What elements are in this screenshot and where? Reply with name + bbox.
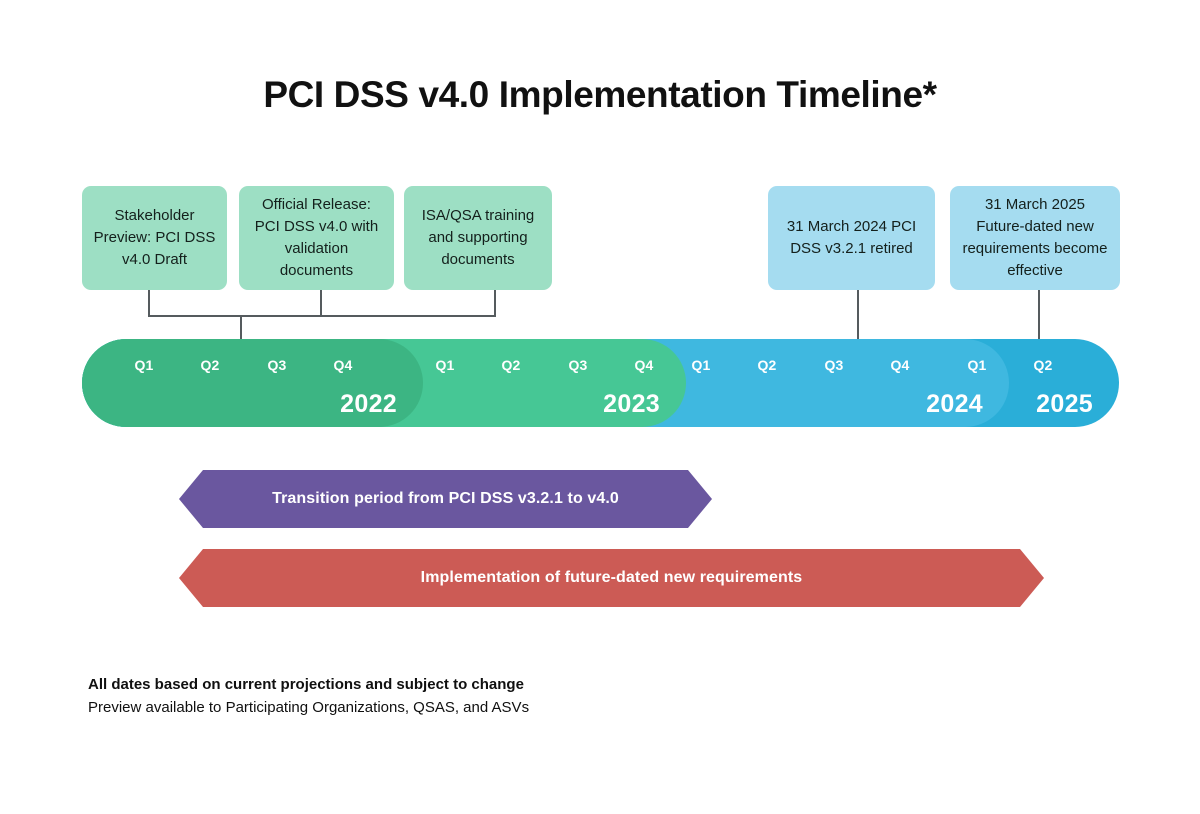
timeline-quarter-2024-q4: Q4 [880, 357, 920, 373]
timeline-quarter-2024-q2: Q2 [747, 357, 787, 373]
timeline-year-label: 2023 [603, 390, 660, 419]
timeline-quarter-2022-q3: Q3 [257, 357, 297, 373]
callout-official-release: Official Release: PCI DSS v4.0 with vali… [239, 186, 394, 290]
connector-line-stakeholder [148, 290, 150, 316]
footnote-secondary: Preview available to Participating Organ… [88, 696, 529, 719]
callout-text: Official Release: PCI DSS v4.0 with vali… [249, 194, 384, 282]
callout-isa-qsa-training: ISA/QSA training and supporting document… [404, 186, 552, 290]
timeline-quarter-2022-q2: Q2 [190, 357, 230, 373]
footnotes: All dates based on current projections a… [88, 673, 529, 719]
timeline-year-label: 2024 [926, 390, 983, 419]
timeline-quarter-2023-q2: Q2 [491, 357, 531, 373]
connector-bracket-horizontal [148, 315, 496, 317]
timeline-quarter-2023-q4: Q4 [624, 357, 664, 373]
timeline-year-2022: 2022 [82, 339, 423, 427]
connector-line-v321-retired [857, 290, 859, 341]
timeline-quarter-2024-q3: Q3 [814, 357, 854, 373]
timeline-year-label: 2022 [340, 390, 397, 419]
connector-line-isa-qsa [494, 290, 496, 316]
timeline-quarter-2023-q1: Q1 [425, 357, 465, 373]
callout-text: 31 March 2025 Future-dated new requireme… [960, 194, 1110, 282]
timeline-bar: 2025 2024 2023 2022 [82, 339, 1119, 427]
connector-line-future-dated [1038, 290, 1040, 341]
callout-future-dated-effective: 31 March 2025 Future-dated new requireme… [950, 186, 1120, 290]
timeline-quarter-2024-q1: Q1 [681, 357, 721, 373]
timeline-quarter-2025-q1: Q1 [957, 357, 997, 373]
timeline-quarter-2022-q1: Q1 [124, 357, 164, 373]
timeline-infographic: PCI DSS v4.0 Implementation Timeline* St… [0, 0, 1200, 814]
timeline-quarter-2025-q2: Q2 [1023, 357, 1063, 373]
banner-transition-period: Transition period from PCI DSS v3.2.1 to… [179, 470, 712, 528]
connector-line-official-release [320, 290, 322, 316]
banner-implementation-future-dated: Implementation of future-dated new requi… [179, 549, 1044, 607]
timeline-quarter-2022-q4: Q4 [323, 357, 363, 373]
connector-bracket-stem [240, 315, 242, 341]
callout-text: ISA/QSA training and supporting document… [414, 205, 542, 271]
callout-text: Stakeholder Preview: PCI DSS v4.0 Draft [92, 205, 217, 271]
footnote-primary: All dates based on current projections a… [88, 673, 529, 696]
timeline-year-label: 2025 [1036, 390, 1093, 419]
banner-label: Implementation of future-dated new requi… [421, 569, 803, 587]
timeline-quarter-2023-q3: Q3 [558, 357, 598, 373]
page-title: PCI DSS v4.0 Implementation Timeline* [0, 74, 1200, 116]
callout-stakeholder-preview: Stakeholder Preview: PCI DSS v4.0 Draft [82, 186, 227, 290]
banner-label: Transition period from PCI DSS v3.2.1 to… [272, 490, 619, 508]
callout-text: 31 March 2024 PCI DSS v3.2.1 retired [778, 216, 925, 260]
callout-v321-retired: 31 March 2024 PCI DSS v3.2.1 retired [768, 186, 935, 290]
